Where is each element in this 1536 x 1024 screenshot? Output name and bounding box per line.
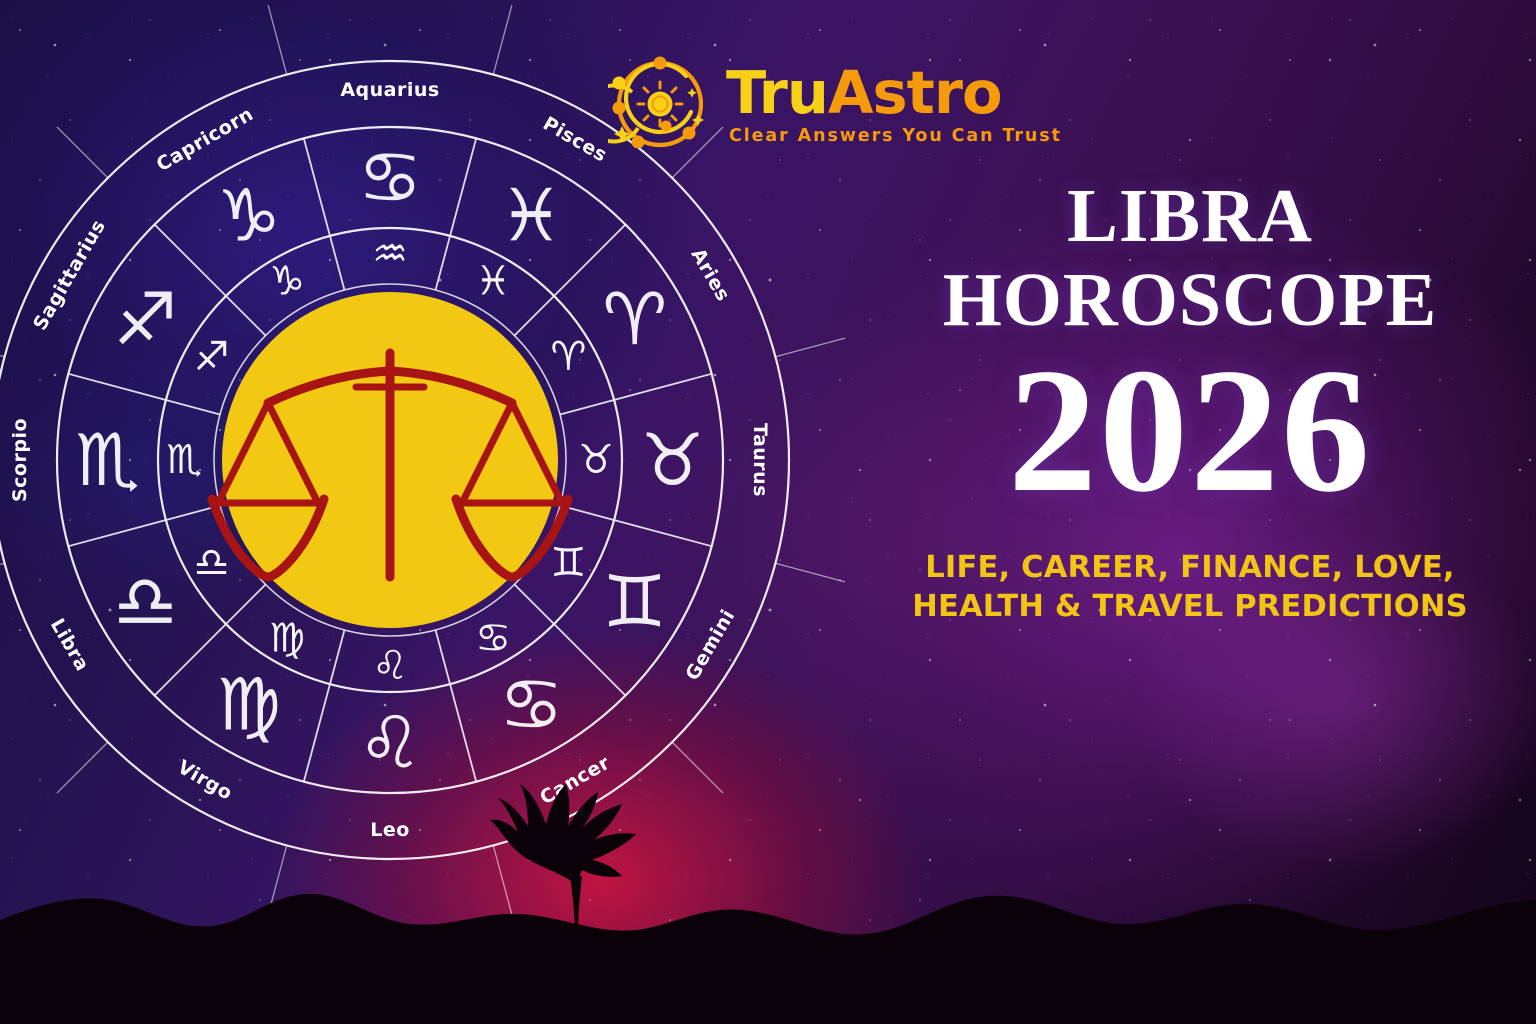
subtitle-line-1: LIFE, CAREER, FINANCE, LOVE, [880,548,1500,588]
orbit-solar-system-icon [608,52,712,156]
wheel-glyph-sagittarius: ♐ [194,334,230,380]
wheel-label-taurus: Taurus [749,423,771,497]
wheel-figure-scorpio: ♏ [75,418,140,502]
wheel-glyph-capricorn: ♑ [269,259,305,305]
subtitle-line-2: HEALTH & TRAVEL PREDICTIONS [880,587,1500,627]
wheel-spoke [304,138,345,290]
headline-year: 2026 [880,340,1500,522]
wheel-label-aries: Aries [687,245,735,306]
wheel-outer-ray [0,563,5,582]
wheel-glyph-pisces: ♓ [475,259,511,305]
truastro-logo[interactable]: TruAstro Clear Answers You Can Trust [608,52,1062,156]
wheel-glyph-aries: ♈ [550,334,586,380]
wheel-glyph-leo: ♌ [372,643,408,689]
wheel-figure-taurus: ♉ [640,418,705,502]
wheel-glyph-gemini: ♊ [550,540,586,586]
brand-tagline: Clear Answers You Can Trust [729,126,1062,146]
wheel-figure-libra: ♎ [113,559,178,643]
brand-name-part2: Astro [828,58,1002,127]
wheel-figure-gemini: ♊ [602,559,667,643]
wheel-glyph-taurus: ♉ [578,437,614,483]
wheel-label-gemini: Gemini [681,606,739,684]
wheel-glyph-scorpio: ♏ [166,437,202,483]
wheel-label-scorpio: Scorpio [9,418,31,502]
wheel-label-sagittarius: Sagittarius [29,216,110,334]
brand-wordmark: TruAstro [726,63,1062,122]
wheel-outer-ray [0,338,5,357]
wheel-label-aquarius: Aquarius [340,79,439,101]
wheel-glyph-aquarius: ♒ [372,231,408,277]
wheel-glyph-libra: ♎ [194,540,230,586]
headline-line-2: HOROSCOPE [880,259,1500,343]
horoscope-banner: AquariusPiscesAriesTaurusGeminiCancerLeo… [0,0,1536,1024]
wheel-label-capricorn: Capricorn [153,103,258,176]
wheel-figure-capricorn: ♑ [216,173,281,257]
wheel-figure-aries: ♈ [602,277,667,361]
headline-block: LIBRA HOROSCOPE 2026 LIFE, CAREER, FINAN… [880,175,1500,627]
wheel-figure-aquarius: ♋ [358,136,423,220]
horizon-silhouette [0,724,1536,1024]
wheel-glyph-cancer: ♋ [475,615,511,661]
hill-silhouette-icon [0,894,1536,1024]
brand-name-part1: Tru [726,58,828,127]
wheel-label-libra: Libra [46,615,94,675]
wheel-glyph-virgo: ♍ [269,615,305,661]
wheel-spoke [436,138,477,290]
wheel-figure-pisces: ♓ [499,173,564,257]
wheel-figure-sagittarius: ♐ [113,277,178,361]
wheel-outer-ray [57,127,108,178]
headline-line-1: LIBRA [880,175,1500,259]
